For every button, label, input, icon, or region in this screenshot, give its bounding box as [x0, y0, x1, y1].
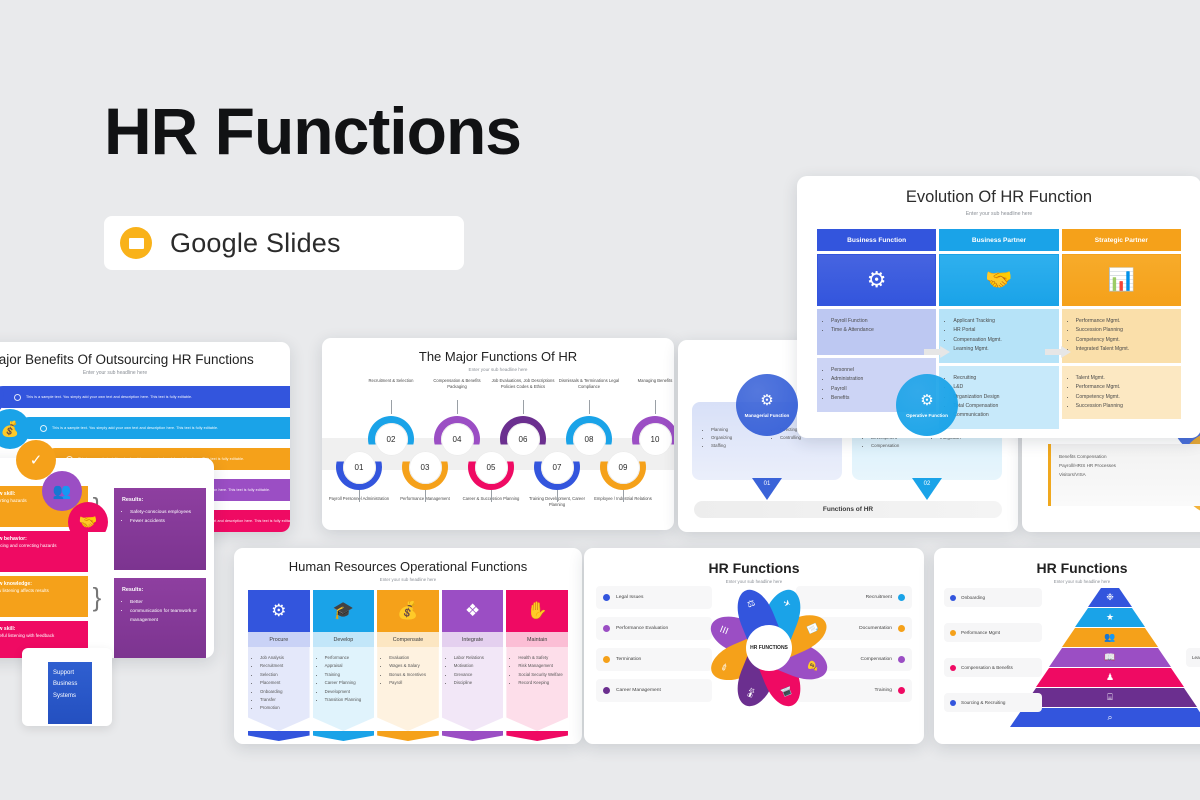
benefit-text: This is a sample text. You simply add yo…: [26, 395, 192, 399]
function-step-marker: 02: [912, 478, 942, 500]
evolution-bottom-list: Talent Mgmt.Performance Mgmt.Competency …: [1062, 366, 1181, 420]
evolution-item: Performance Mgmt.: [1076, 317, 1173, 326]
operational-item: Training: [325, 671, 371, 679]
evolution-column-header: Business Partner: [939, 229, 1058, 251]
brace-icon: [88, 531, 106, 572]
operational-column[interactable]: ✋MaintainHealth & SafetyRisk ManagementS…: [506, 590, 568, 741]
major-label: Managing Benefits: [622, 378, 674, 384]
operational-foot: [442, 731, 504, 741]
bullet-dot: [950, 630, 956, 636]
flower-item-label: Documentation: [859, 626, 892, 631]
calc-icon[interactable]: ⌸: [1023, 688, 1197, 707]
major-tick: [391, 400, 392, 414]
slide-skills-results[interactable]: How to spot hazardsNew skill:Sporting ha…: [0, 458, 214, 658]
results-panel: Results:Safety-conscious employeesFewer …: [114, 488, 206, 570]
skill-body: Noticing and correcting hazards: [0, 543, 57, 548]
evolution-item: Total Compensation: [953, 402, 1050, 411]
operational-item: Grevance: [454, 671, 500, 679]
slide-title: The Major Functions Of HR: [322, 349, 674, 364]
results-item: Fewer accidents: [130, 517, 198, 526]
operational-item: Motivation: [454, 662, 500, 670]
slide-title: Human Resources Operational Functions: [234, 559, 582, 574]
evolution-item: Integrated Talent Mgmt.: [1076, 345, 1173, 354]
evolution-column-header: Business Function: [817, 229, 936, 251]
flower-item-label: Legal Issues: [616, 595, 643, 600]
pyramid-left-label[interactable]: Performance Mgmt: [944, 623, 1042, 642]
bullet-dot: [898, 656, 905, 663]
skill-title: New knowledge:: [0, 581, 82, 588]
slide-hr-functions-flower[interactable]: HR Functions Enter your sub headline her…: [584, 548, 924, 744]
flower-item-label: Recruitment: [866, 595, 892, 600]
slide-title: HR Functions: [934, 560, 1200, 576]
flower-petals: ☰✎🎖💻💰📄✈⚖ HR FUNCTIONS: [714, 584, 824, 712]
major-label: Job Evaluations, Job Descriptions Polici…: [490, 378, 556, 390]
operational-item: Performance: [325, 654, 371, 662]
bullet-dot: [14, 394, 21, 401]
google-slides-badge: Google Slides: [104, 216, 464, 270]
operational-list: Job AnalysisRecruitmentSelectionPlacemen…: [248, 647, 310, 731]
evolution-mid-list: Applicant TrackingHR PortalCompensation …: [939, 309, 1058, 363]
evolution-table: Business Function⚙Payroll FunctionTime &…: [797, 217, 1200, 429]
skills-grid: How to spot hazardsNew skill:Sporting ha…: [0, 458, 214, 658]
major-tick: [655, 400, 656, 414]
function-bubble-label: Operative Function: [906, 413, 948, 419]
skill-target-cell: New behavior:Noticing and correcting haz…: [0, 531, 88, 572]
evolution-column-header: Strategic Partner: [1062, 229, 1181, 251]
process-line: Payroll/HRIS HR Processes: [1059, 461, 1200, 470]
major-tick: [359, 490, 360, 502]
operational-item: Appraisal: [325, 662, 371, 670]
money-bag-icon: 💰: [377, 590, 439, 632]
operational-item: Promotion: [260, 704, 306, 712]
evolution-item: Competency Mgmt.: [1076, 336, 1173, 345]
operational-item: Health & Safety: [518, 654, 564, 662]
operational-column[interactable]: 💰CompensateEvaluationWages & SalaryBonus…: [377, 590, 439, 741]
slide-title: HR Functions: [584, 560, 924, 576]
support-line: Support: [53, 668, 87, 679]
operational-list: EvaluationWages & SalaryBonus & Incentiv…: [377, 647, 439, 731]
major-tick: [491, 490, 492, 502]
operational-column[interactable]: 🎓DevelopPerformanceAppraisalTrainingCare…: [313, 590, 375, 741]
support-line: Business: [53, 679, 87, 690]
bullet-dot: [603, 687, 610, 694]
operational-column-name: Maintain: [506, 632, 568, 647]
brace-icon: }: [88, 576, 106, 617]
operational-list: PerformanceAppraisalTrainingCareer Plann…: [313, 647, 375, 731]
function-item: Compensation: [871, 442, 923, 450]
operational-column-name: Procure: [248, 632, 310, 647]
bullet-dot: [950, 595, 956, 601]
bullet-dot: [898, 687, 905, 694]
results-title: Results:: [122, 495, 198, 505]
operational-item: Payroll: [389, 679, 435, 687]
benefit-bar: This is a sample text. You simply add yo…: [0, 386, 290, 408]
operational-item: Selection: [260, 671, 306, 679]
slide-subtitle: Enter your sub headline here: [0, 370, 290, 376]
benefit-row[interactable]: This is a sample text. You simply add yo…: [0, 415, 290, 441]
major-number: 10: [639, 423, 672, 456]
hr-processes-panel: Benefits CompensationPayroll/HRIS HR Pro…: [1048, 444, 1200, 506]
operational-column-name: Develop: [313, 632, 375, 647]
slide-title: Evolution Of HR Function: [797, 188, 1200, 207]
flower-item-label: Compensation: [860, 657, 892, 662]
evolution-item: Succession Planning: [1076, 402, 1173, 411]
results-item: Better: [130, 598, 198, 607]
operational-item: Development: [325, 688, 371, 696]
support-systems-block: SupportBusinessSystems: [48, 662, 92, 724]
puzzle-icon: ❖: [442, 590, 504, 632]
network-icon[interactable]: ❉: [1088, 588, 1132, 607]
results-list: Bettercommunication for teamwork or mana…: [130, 598, 198, 625]
process-line: Benefits Compensation: [1059, 452, 1200, 461]
google-slides-icon: [120, 227, 152, 259]
book-icon[interactable]: 📖: [1049, 648, 1171, 667]
evolution-mid-list: Payroll FunctionTime & Attendance: [817, 309, 936, 355]
function-bubble[interactable]: ⚙Operative Function: [896, 374, 958, 436]
slide-major-functions[interactable]: The Major Functions Of HR Enter your sub…: [322, 338, 674, 530]
pyramid-label-text: Compensation & Benefits: [961, 665, 1013, 670]
evolution-mid-list: Performance Mgmt.Succession PlanningComp…: [1062, 309, 1181, 363]
flower-item-label: Career Management: [616, 688, 661, 693]
evolution-item: Time & Attendance: [831, 326, 928, 335]
function-item: Organizing: [711, 434, 763, 442]
slide-support-systems-fragment[interactable]: SupportBusinessSystems: [22, 648, 112, 726]
evolution-item: Competency Mgmt.: [1076, 393, 1173, 402]
slide-hr-functions-pyramid[interactable]: HR Functions Enter your sub headline her…: [934, 548, 1200, 744]
major-tick: [589, 400, 590, 414]
slide-evolution-of-hr[interactable]: Evolution Of HR Function Enter your sub …: [797, 176, 1200, 438]
operational-item: Discipline: [454, 679, 500, 687]
major-tick: [623, 490, 624, 502]
evolution-item: L&D: [953, 383, 1050, 392]
function-bubble-label: Managerial Function: [745, 413, 790, 419]
person-icon[interactable]: ♟: [1036, 668, 1184, 687]
process-line: Visitors/VISA: [1059, 470, 1200, 479]
operational-item: Social Security Welfare: [518, 671, 564, 679]
pyramid-left-label[interactable]: Onboarding: [944, 588, 1042, 607]
gear-orbit-icon: ⚙: [817, 254, 936, 306]
poster-stage: HR Functions Google Slides 5 Major Benef…: [0, 0, 1200, 800]
evolution-item: Learning Mgmt.: [953, 345, 1050, 354]
pyramid-left-label[interactable]: Sourcing & Recruiting: [944, 693, 1042, 712]
gear-people-icon: ⚙: [248, 590, 310, 632]
major-label: Recruitment & Selection: [358, 378, 424, 384]
flower-item-label: Performance Evaluation: [616, 626, 668, 631]
operational-columns: ⚙ProcureJob AnalysisRecruitmentSelection…: [234, 582, 582, 741]
skill-target-cell: New knowledge:How listening affects resu…: [0, 576, 88, 617]
pyramid-label-text: Sourcing & Recruiting: [961, 700, 1005, 705]
operational-foot: [313, 731, 375, 741]
pyramid-stage: ❉★👥📖♟⌸⌕OnboardingPerformance MgmtCompens…: [934, 588, 1200, 736]
flower-list-item[interactable]: Performance Evaluation: [596, 617, 712, 640]
pyramid-left-label[interactable]: Compensation & Benefits: [944, 658, 1042, 677]
operational-column-name: Compensate: [377, 632, 439, 647]
bullet-dot: [40, 425, 47, 432]
operational-foot: [248, 731, 310, 741]
operational-item: Bonus & Incentives: [389, 671, 435, 679]
evolution-item: Communication: [953, 411, 1050, 420]
major-ring: 10: [632, 416, 674, 462]
slide-operational-functions[interactable]: Human Resources Operational Functions En…: [234, 548, 582, 744]
results-title: Results:: [122, 585, 198, 595]
results-panel: Results:Bettercommunication for teamwork…: [114, 578, 206, 658]
bullet-dot: [898, 625, 905, 632]
operational-foot: [506, 731, 568, 741]
operational-column-name: Integrate: [442, 632, 504, 647]
major-tick: [557, 490, 558, 502]
major-label: Compensation & Benefits Packaging: [424, 378, 490, 390]
evolution-item: Organization Design: [953, 393, 1050, 402]
skill-title: New skill:: [0, 626, 82, 633]
flower-left-list: Legal IssuesPerformance EvaluationTermin…: [596, 586, 712, 710]
results-list: Safety-conscious employeesFewer accident…: [130, 508, 198, 526]
handshake-check-icon: 🤝: [939, 254, 1058, 306]
people-icon[interactable]: 👥: [1062, 628, 1158, 647]
results-item: communication for teamwork or management: [130, 607, 198, 625]
hand-gear-icon: ✋: [506, 590, 568, 632]
skill-body: Sporting hazards: [0, 498, 27, 503]
bullet-dot: [603, 625, 610, 632]
flower-list-item[interactable]: Career Management: [596, 679, 712, 702]
bullet-dot: [950, 665, 956, 671]
benefit-text: This is a sample text. You simply add yo…: [52, 426, 218, 430]
operational-foot: [377, 731, 439, 741]
benefit-row[interactable]: This is a sample text. You simply add yo…: [0, 384, 290, 410]
pyramid-label-text: Onboarding: [961, 595, 985, 600]
major-tick: [425, 490, 426, 502]
chart-board-icon: 📊: [1062, 254, 1181, 306]
slide-title: 5 Major Benefits Of Outsourcing HR Funct…: [0, 352, 290, 367]
major-node[interactable]: 10: [632, 416, 674, 462]
operational-item: Transition Planning: [325, 696, 371, 704]
function-item: Staffing: [711, 442, 763, 450]
operational-item: Placement: [260, 679, 306, 687]
operational-item: Transfer: [260, 696, 306, 704]
brand-label: Google Slides: [170, 228, 341, 259]
major-tick: [523, 400, 524, 414]
operational-item: Wages & Salary: [389, 662, 435, 670]
flower-item-label: Termination: [616, 657, 641, 662]
slide-subtitle: Enter your sub headline here: [934, 579, 1200, 584]
skill-body: Careful listening with feedback: [0, 633, 54, 638]
functions-base-label: Functions of HR: [694, 501, 1002, 518]
flower-hub-label: HR FUNCTIONS: [746, 625, 792, 671]
operational-item: Labor Relations: [454, 654, 500, 662]
flower-list-item[interactable]: Termination: [596, 648, 712, 671]
flower-item-label: Training: [875, 688, 893, 693]
major-diagram: 01Payroll Personnel Administration02Recr…: [322, 376, 674, 526]
head-gear-icon: ⚙: [760, 391, 773, 411]
evolution-item: Payroll Function: [831, 317, 928, 326]
evolution-column[interactable]: Strategic Partner📊Performance Mgmt.Succe…: [1062, 229, 1181, 429]
evolution-item: Personnel: [831, 366, 928, 375]
bullet-dot: [898, 594, 905, 601]
evolution-item: Compensation Mgmt.: [953, 336, 1050, 345]
pyramid-right-label[interactable]: Learning: [1186, 648, 1200, 667]
evolution-item: Performance Mgmt.: [1076, 383, 1173, 392]
bullet-dot: [603, 656, 610, 663]
evolution-item: Applicant Tracking: [953, 317, 1050, 326]
page-title: HR Functions: [104, 98, 521, 164]
slide-subtitle: Enter your sub headline here: [322, 367, 674, 372]
skill-body: How listening affects results: [0, 588, 49, 593]
major-tick: [457, 400, 458, 414]
evolution-item: HR Portal: [953, 326, 1050, 335]
evolution-item: Succession Planning: [1076, 326, 1173, 335]
bullet-dot: [950, 700, 956, 706]
operational-item: Evaluation: [389, 654, 435, 662]
operational-item: Recruitment: [260, 662, 306, 670]
operational-item: Risk Management: [518, 662, 564, 670]
operational-column[interactable]: ⚙ProcureJob AnalysisRecruitmentSelection…: [248, 590, 310, 741]
evolution-item: Talent Mgmt.: [1076, 374, 1173, 383]
operational-column[interactable]: ❖IntegrateLabor RelationsMotivationGreva…: [442, 590, 504, 741]
graduate-icon: 🎓: [313, 590, 375, 632]
operational-item: Career Planning: [325, 679, 371, 687]
pyramid-label-text: Performance Mgmt: [961, 630, 1000, 635]
operational-item: Job Analysis: [260, 654, 306, 662]
major-label: Dismissals & Terminations Legal Complian…: [556, 378, 622, 390]
operational-item: Onboarding: [260, 688, 306, 696]
function-bubble[interactable]: ⚙Managerial Function: [736, 374, 798, 436]
function-step-marker: 01: [752, 478, 782, 500]
flower-list-item[interactable]: Legal Issues: [596, 586, 712, 609]
badge-icon[interactable]: ★: [1075, 608, 1145, 627]
evolution-item: Recruiting: [953, 374, 1050, 383]
support-line: Systems: [53, 691, 87, 702]
skill-title: New behavior:: [0, 536, 82, 543]
people-gear-icon: ⚙: [920, 391, 933, 411]
benefit-bar: This is a sample text. You simply add yo…: [18, 417, 290, 439]
operational-list: Health & SafetyRisk ManagementSocial Sec…: [506, 647, 568, 731]
results-item: Safety-conscious employees: [130, 508, 198, 517]
operational-item: Record Keeping: [518, 679, 564, 687]
operational-list: Labor RelationsMotivationGrevanceDiscipl…: [442, 647, 504, 731]
bullet-dot: [603, 594, 610, 601]
